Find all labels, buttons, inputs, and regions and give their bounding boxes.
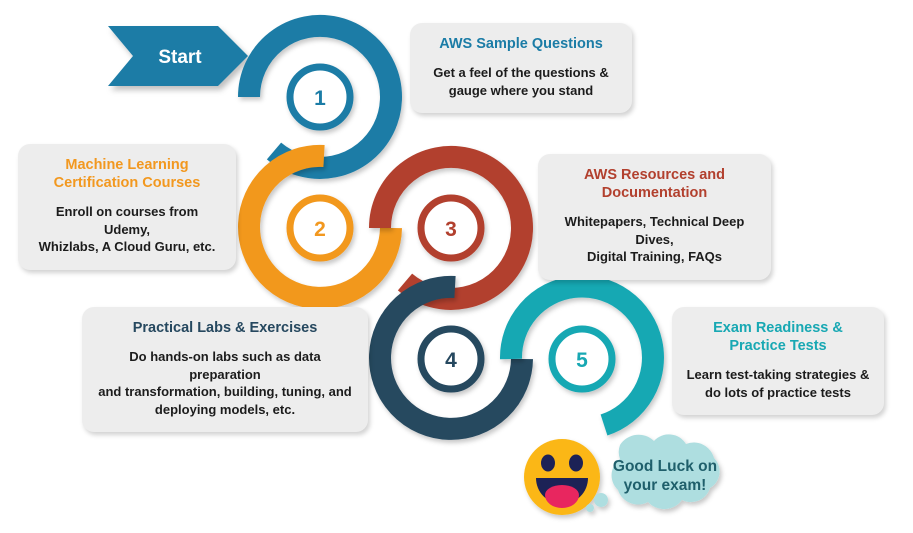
start-banner-label: Start (158, 47, 202, 68)
step-4-number: 4 (445, 349, 457, 372)
step-4-info-card[interactable]: Practical Labs & Exercises Do hands-on l… (82, 307, 368, 432)
step-1-card-title: AWS Sample Questions (424, 35, 618, 53)
step-3-card-title-line-1: AWS Resources and (584, 167, 725, 183)
step-1-number: 1 (314, 87, 326, 110)
emoji-eye-right (569, 455, 583, 472)
step-1-card-body-line-1: Get a feel of the questions & (433, 65, 609, 80)
step-1-card-title-line-1: AWS Sample Questions (439, 36, 603, 52)
step-3-card-body: Whitepapers, Technical Deep Dives, Digit… (552, 213, 757, 266)
speech-bubble-line-1: Good Luck on (613, 458, 717, 475)
step-5-card-body: Learn test-taking strategies & do lots o… (686, 366, 870, 401)
step-5-number: 5 (576, 349, 588, 372)
step-5-info-card[interactable]: Exam Readiness & Practice Tests Learn te… (672, 307, 884, 415)
step-3-card-body-line-1: Whitepapers, Technical Deep Dives, (565, 214, 745, 247)
step-4-card-body: Do hands-on labs such as data preparatio… (96, 348, 354, 418)
step-3-card-body-line-2: Digital Training, FAQs (587, 249, 722, 264)
step-4-card-body-line-3: deploying models, etc. (155, 402, 295, 417)
step-2-info-card[interactable]: Machine Learning Certification Courses E… (18, 144, 236, 270)
step-2-card-body-line-2: Whizlabs, A Cloud Guru, etc. (39, 239, 216, 254)
step-3-number: 3 (445, 218, 457, 241)
step-2-card-title: Machine Learning Certification Courses (32, 156, 222, 192)
step-4-card-title-line-1: Practical Labs & Exercises (133, 320, 318, 336)
step-4-card-title: Practical Labs & Exercises (96, 319, 354, 337)
step-5-card-title: Exam Readiness & Practice Tests (686, 319, 870, 355)
step-5-card-body-line-1: Learn test-taking strategies & (687, 367, 870, 382)
step-2-card-title-line-2: Certification Courses (54, 175, 201, 191)
step-3-card-title: AWS Resources and Documentation (552, 166, 757, 202)
step-3-info-card[interactable]: AWS Resources and Documentation Whitepap… (538, 154, 771, 280)
speech-bubble-tail-2 (586, 504, 594, 512)
emoji-eye-left (541, 455, 555, 472)
infographic-canvas: Start 1 2 3 4 (0, 0, 913, 533)
step-2-number: 2 (314, 218, 326, 241)
step-3-card-title-line-2: Documentation (602, 185, 708, 201)
step-2-card-body: Enroll on courses from Udemy, Whizlabs, … (32, 203, 222, 256)
grinning-face-emoji (524, 439, 600, 515)
step-5-card-body-line-2: do lots of practice tests (705, 385, 851, 400)
step-5-card-title-line-1: Exam Readiness & (713, 320, 843, 336)
step-1-card-body: Get a feel of the questions & gauge wher… (424, 64, 618, 99)
step-2-card-body-line-1: Enroll on courses from Udemy, (56, 204, 198, 237)
step-5-card-title-line-2: Practice Tests (729, 338, 826, 354)
step-1-card-body-line-2: gauge where you stand (449, 83, 593, 98)
step-4-card-body-line-1: Do hands-on labs such as data preparatio… (129, 349, 320, 382)
speech-bubble-line-2: your exam! (624, 477, 707, 494)
step-1-info-card[interactable]: AWS Sample Questions Get a feel of the q… (410, 23, 632, 113)
step-4-card-body-line-2: and transformation, building, tuning, an… (98, 384, 351, 399)
step-2-card-title-line-1: Machine Learning (65, 157, 188, 173)
speech-bubble-tail-1 (594, 493, 608, 507)
